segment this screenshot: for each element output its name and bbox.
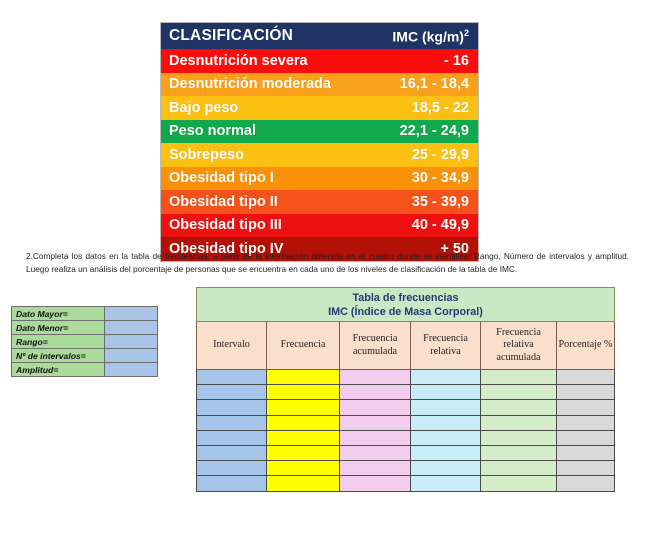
frequency-table-title: Tabla de frecuencias IMC (Índice de Masa… [197,288,615,322]
cell-frecuencia-relativa-acumulada[interactable] [481,430,557,445]
cell-frecuencia[interactable] [267,430,340,445]
cell-frecuencia-relativa-acumulada[interactable] [481,415,557,430]
frequency-table-column-header-row: Intervalo Frecuencia Frecuencia acumulad… [197,322,615,370]
bmi-row-sobrepeso: Sobrepeso 25 - 29,9 [161,143,478,167]
cell-frecuencia-acumulada[interactable] [340,445,411,460]
cell-frecuencia-acumulada[interactable] [340,461,411,476]
bmi-row-desnutricion-severa: Desnutrición severa - 16 [161,49,478,73]
data-value-amplitud[interactable] [105,363,158,377]
cell-porcentaje[interactable] [557,461,615,476]
bmi-row-label: Peso normal [169,123,256,139]
bmi-row-value: 30 - 34,9 [412,170,469,186]
cell-intervalo[interactable] [197,430,267,445]
bmi-header-imc-label: IMC (kg/m)2 [392,28,469,45]
bmi-row-desnutricion-moderada: Desnutrición moderada 16,1 - 18,4 [161,73,478,97]
table-row: Dato Menor= [12,321,158,335]
cell-intervalo[interactable] [197,400,267,415]
data-value-numero-intervalos[interactable] [105,349,158,363]
frequency-table-body [197,370,615,492]
table-row: Amplitud= [12,363,158,377]
bmi-row-value: - 16 [444,53,469,69]
cell-frecuencia-relativa[interactable] [411,430,481,445]
cell-frecuencia-relativa-acumulada[interactable] [481,445,557,460]
bmi-row-bajo-peso: Bajo peso 18,5 - 22 [161,96,478,120]
cell-porcentaje[interactable] [557,415,615,430]
cell-frecuencia[interactable] [267,461,340,476]
bmi-row-value: 22,1 - 24,9 [400,123,469,139]
cell-frecuencia-relativa-acumulada[interactable] [481,385,557,400]
data-value-rango[interactable] [105,335,158,349]
data-label-dato-mayor: Dato Mayor= [12,307,105,321]
bmi-row-value: 18,5 - 22 [412,100,469,116]
data-summary-table: Dato Mayor= Dato Menor= Rango= Nº de int… [11,306,158,377]
bmi-row-value: 16,1 - 18,4 [400,76,469,92]
cell-frecuencia-acumulada[interactable] [340,400,411,415]
cell-frecuencia-relativa-acumulada[interactable] [481,476,557,491]
cell-frecuencia-acumulada[interactable] [340,370,411,385]
column-header-frecuencia: Frecuencia [267,322,340,370]
column-header-frecuencia-acumulada: Frecuencia acumulada [340,322,411,370]
data-value-dato-menor[interactable] [105,321,158,335]
bmi-row-label: Obesidad tipo I [169,170,274,186]
bmi-row-obesidad-tipo-ii: Obesidad tipo II 35 - 39,9 [161,190,478,214]
column-header-frecuencia-relativa: Frecuencia relativa [411,322,481,370]
cell-porcentaje[interactable] [557,445,615,460]
bmi-row-value: 40 - 49,9 [412,217,469,233]
cell-porcentaje[interactable] [557,476,615,491]
cell-frecuencia-relativa[interactable] [411,476,481,491]
cell-intervalo[interactable] [197,445,267,460]
frequency-table-header: Tabla de frecuencias IMC (Índice de Masa… [197,288,615,370]
frequency-table-title-row: Tabla de frecuencias IMC (Índice de Masa… [197,288,615,322]
cell-frecuencia[interactable] [267,400,340,415]
column-header-intervalo: Intervalo [197,322,267,370]
cell-frecuencia-acumulada[interactable] [340,415,411,430]
cell-frecuencia-relativa[interactable] [411,385,481,400]
table-row [197,461,615,476]
cell-frecuencia[interactable] [267,385,340,400]
bmi-row-obesidad-tipo-i: Obesidad tipo I 30 - 34,9 [161,167,478,191]
table-row [197,385,615,400]
bmi-row-label: Sobrepeso [169,147,244,163]
table-row [197,370,615,385]
bmi-row-value: 25 - 29,9 [412,147,469,163]
bmi-row-label: Bajo peso [169,100,238,116]
table-row [197,415,615,430]
cell-porcentaje[interactable] [557,370,615,385]
cell-intervalo[interactable] [197,461,267,476]
cell-porcentaje[interactable] [557,400,615,415]
table-row: Rango= [12,335,158,349]
table-row [197,400,615,415]
cell-frecuencia-relativa-acumulada[interactable] [481,400,557,415]
data-summary-table-body: Dato Mayor= Dato Menor= Rango= Nº de int… [12,307,158,377]
cell-intervalo[interactable] [197,370,267,385]
cell-frecuencia[interactable] [267,370,340,385]
bmi-header-imc-exponent: 2 [464,28,469,38]
column-header-porcentaje: Porcentaje % [557,322,615,370]
cell-frecuencia-relativa-acumulada[interactable] [481,461,557,476]
cell-frecuencia-acumulada[interactable] [340,385,411,400]
instructions-paragraph: 2.Completa los datos en la tabla de frec… [26,250,629,276]
cell-intervalo[interactable] [197,415,267,430]
cell-porcentaje[interactable] [557,385,615,400]
bmi-row-label: Obesidad tipo II [169,194,278,210]
bmi-header-classification-label: CLASIFICACIÓN [169,27,293,45]
cell-frecuencia-acumulada[interactable] [340,430,411,445]
bmi-row-label: Desnutrición moderada [169,76,331,92]
cell-frecuencia-relativa[interactable] [411,415,481,430]
bmi-table-header-row: CLASIFICACIÓN IMC (kg/m)2 [161,23,478,49]
cell-frecuencia-relativa[interactable] [411,370,481,385]
frequency-table: Tabla de frecuencias IMC (Índice de Masa… [196,287,615,492]
data-label-amplitud: Amplitud= [12,363,105,377]
cell-frecuencia-acumulada[interactable] [340,476,411,491]
cell-frecuencia-relativa[interactable] [411,461,481,476]
frequency-table-title-line1: Tabla de frecuencias [197,291,614,305]
bmi-classification-table: CLASIFICACIÓN IMC (kg/m)2 Desnutrición s… [160,22,479,262]
data-label-dato-menor: Dato Menor= [12,321,105,335]
data-label-numero-intervalos: Nº de intervalos= [12,349,105,363]
cell-porcentaje[interactable] [557,430,615,445]
cell-intervalo[interactable] [197,385,267,400]
cell-frecuencia[interactable] [267,476,340,491]
cell-frecuencia[interactable] [267,445,340,460]
bmi-header-imc-text: IMC (kg/m) [392,28,464,44]
cell-frecuencia-relativa-acumulada[interactable] [481,370,557,385]
cell-frecuencia-relativa[interactable] [411,445,481,460]
data-label-rango: Rango= [12,335,105,349]
table-row [197,476,615,491]
frequency-table-title-line2: IMC (Índice de Masa Corporal) [197,305,614,319]
table-row: Dato Mayor= [12,307,158,321]
column-header-frecuencia-relativa-acumulada: Frecuencia relativa acumulada [481,322,557,370]
table-row: Nº de intervalos= [12,349,158,363]
cell-frecuencia[interactable] [267,415,340,430]
bmi-row-obesidad-tipo-iii: Obesidad tipo III 40 - 49,9 [161,214,478,238]
bmi-row-peso-normal: Peso normal 22,1 - 24,9 [161,120,478,144]
cell-frecuencia-relativa[interactable] [411,400,481,415]
bmi-row-value: 35 - 39,9 [412,194,469,210]
data-value-dato-mayor[interactable] [105,307,158,321]
table-row [197,445,615,460]
table-row [197,430,615,445]
bmi-row-label: Desnutrición severa [169,53,308,69]
cell-intervalo[interactable] [197,476,267,491]
bmi-row-label: Obesidad tipo III [169,217,282,233]
